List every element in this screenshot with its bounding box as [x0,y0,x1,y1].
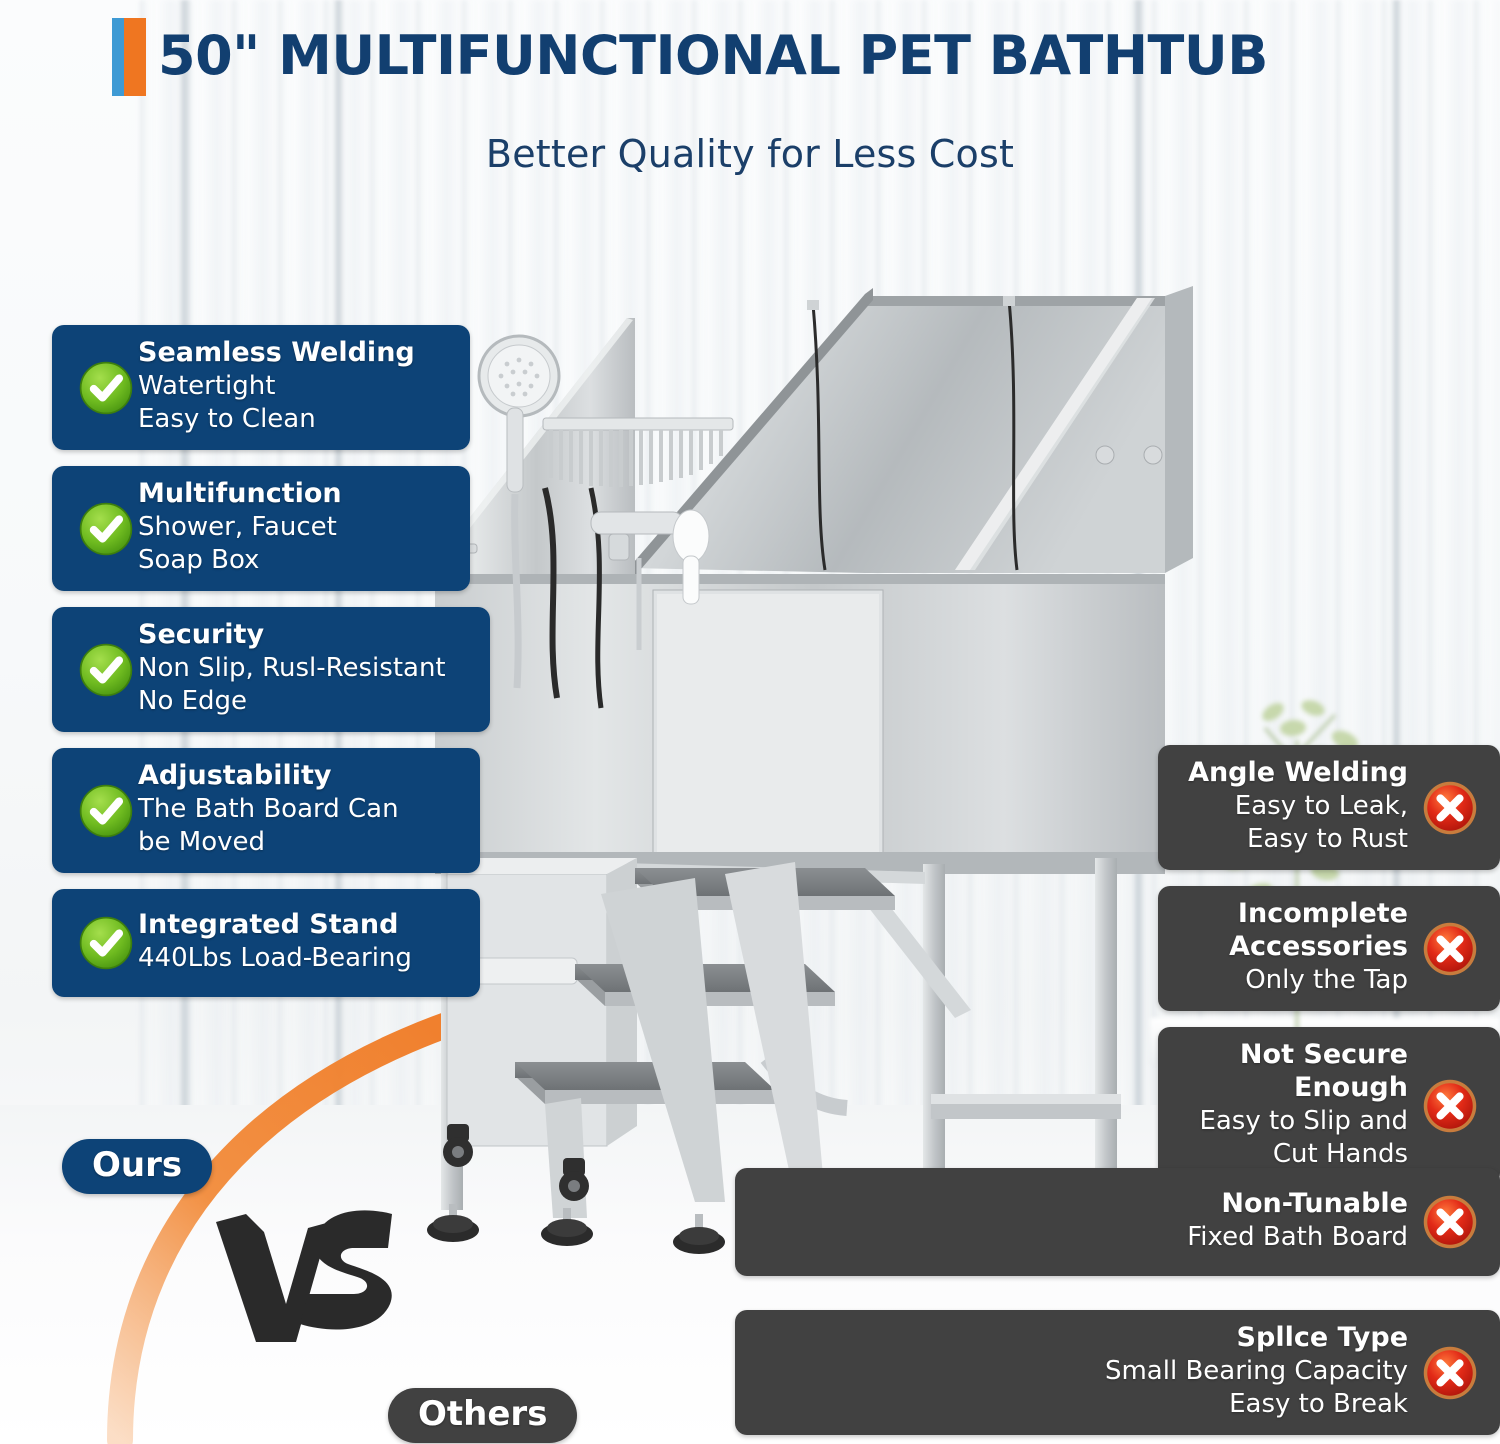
con-line: Easy to Slip and [1178,1105,1408,1138]
check-circle-icon [78,915,134,971]
con-line: Cut Hands [1178,1138,1408,1171]
x-circle-icon [1422,921,1478,977]
pro-title: Seamless Welding [138,337,452,370]
check-circle-icon [78,783,134,839]
con-title: Spllce Type [755,1322,1408,1355]
pro-card-integrated-stand[interactable]: Integrated Stand 440Lbs Load-Bearing [52,889,480,997]
pro-card-security[interactable]: Security Non Slip, Rusl-Resistant No Edg… [52,607,490,732]
con-title: Incomplete Accessories [1178,898,1408,964]
x-circle-icon [1422,1194,1478,1250]
pro-title: Security [138,619,472,652]
con-line: Easy to Rust [1178,823,1408,856]
con-card-not-secure-enough[interactable]: Not Secure Enough Easy to Slip and Cut H… [1158,1027,1500,1185]
title-accent-bars [112,18,146,96]
pro-card-seamless-welding[interactable]: Seamless Welding Watertight Easy to Clea… [52,325,470,450]
product-photo-pet-bathtub [395,258,1215,1278]
con-line: Fixed Bath Board [755,1221,1408,1254]
pro-line: Watertight [138,370,452,403]
x-circle-icon [1422,1078,1478,1134]
pro-line: The Bath Board Can [138,793,462,826]
con-line: Easy to Break [755,1388,1408,1421]
pro-line: 440Lbs Load-Bearing [138,942,462,975]
pro-line: Easy to Clean [138,403,452,436]
infographic-page: Seamless Welding Watertight Easy to Clea… [0,0,1500,1444]
pro-line: Non Slip, Rusl-Resistant [138,652,472,685]
others-pill[interactable]: Others [388,1388,577,1443]
check-circle-icon [78,642,134,698]
con-title: Angle Welding [1178,757,1408,790]
pro-line: No Edge [138,685,472,718]
pro-title: Multifunction [138,478,452,511]
con-card-angle-welding[interactable]: Angle Welding Easy to Leak, Easy to Rust [1158,745,1500,870]
ours-pill[interactable]: Ours [62,1139,212,1194]
x-circle-icon [1422,1345,1478,1401]
pro-line: Soap Box [138,544,452,577]
con-line: Only the Tap [1178,964,1408,997]
con-card-non-tunable[interactable]: Non-Tunable Fixed Bath Board [735,1168,1500,1276]
pro-card-adjustability[interactable]: Adjustability The Bath Board Can be Move… [52,748,480,873]
pro-title: Adjustability [138,760,462,793]
check-circle-icon [78,360,134,416]
con-title: Non-Tunable [755,1188,1408,1221]
con-card-spllce-type[interactable]: Spllce Type Small Bearing Capacity Easy … [735,1310,1500,1435]
con-title: Not Secure Enough [1178,1039,1408,1105]
pro-card-multifunction[interactable]: Multifunction Shower, Faucet Soap Box [52,466,470,591]
con-card-incomplete-accessories[interactable]: Incomplete Accessories Only the Tap [1158,886,1500,1011]
page-subtitle: Better Quality for Less Cost [0,132,1500,176]
vs-logo [212,1208,402,1348]
title-row: 50" MULTIFUNCTIONAL PET BATHTUB [0,0,1500,110]
con-line: Small Bearing Capacity [755,1355,1408,1388]
pro-line: be Moved [138,826,462,859]
pro-line: Shower, Faucet [138,511,452,544]
header: 50" MULTIFUNCTIONAL PET BATHTUB Better Q… [0,0,1500,176]
page-title: 50" MULTIFUNCTIONAL PET BATHTUB [158,24,1268,87]
con-line: Easy to Leak, [1178,790,1408,823]
pro-title: Integrated Stand [138,909,462,942]
x-circle-icon [1422,780,1478,836]
check-circle-icon [78,501,134,557]
